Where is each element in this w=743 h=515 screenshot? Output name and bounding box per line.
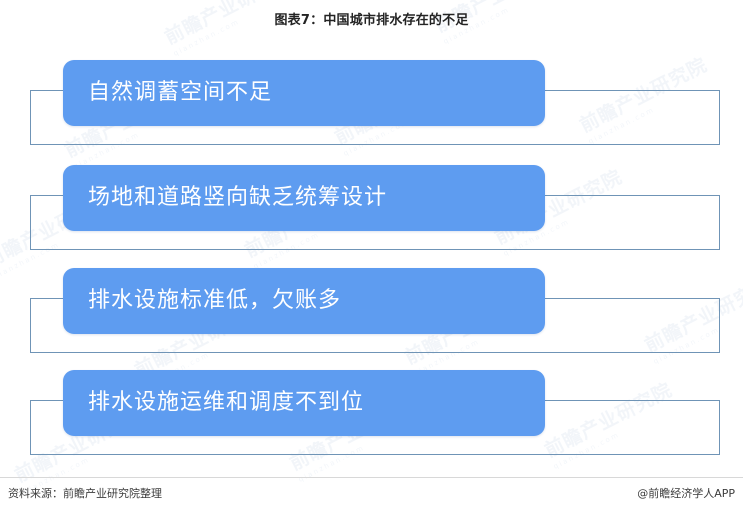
- brand-label: @前瞻经济学人APP: [637, 485, 735, 501]
- diagram-item-4[interactable]: 排水设施运维和调度不到位: [63, 370, 545, 436]
- diagram-item-label: 排水设施运维和调度不到位: [63, 392, 364, 414]
- diagram-item-label: 场地和道路竖向缺乏统筹设计: [63, 187, 387, 209]
- diagram-item-label: 排水设施标准低，欠账多: [63, 290, 341, 312]
- chart-page: 前瞻产业研究院qianzhan.com 前瞻产业研究院qianzhan.com …: [0, 0, 743, 515]
- page-title: 图表7：中国城市排水存在的不足: [0, 9, 743, 28]
- diagram-item-3[interactable]: 排水设施标准低，欠账多: [63, 268, 545, 334]
- footer: 资料来源：前瞻产业研究院整理 @前瞻经济学人APP: [0, 485, 743, 515]
- diagram-body: 自然调蓄空间不足 场地和道路竖向缺乏统筹设计 排水设施标准低，欠账多 排水设施运…: [0, 0, 743, 470]
- diagram-item-1[interactable]: 自然调蓄空间不足: [63, 60, 545, 126]
- source-label: 资料来源：前瞻产业研究院整理: [8, 485, 162, 501]
- diagram-item-label: 自然调蓄空间不足: [63, 82, 272, 104]
- footer-divider: [0, 477, 743, 478]
- diagram-item-2[interactable]: 场地和道路竖向缺乏统筹设计: [63, 165, 545, 231]
